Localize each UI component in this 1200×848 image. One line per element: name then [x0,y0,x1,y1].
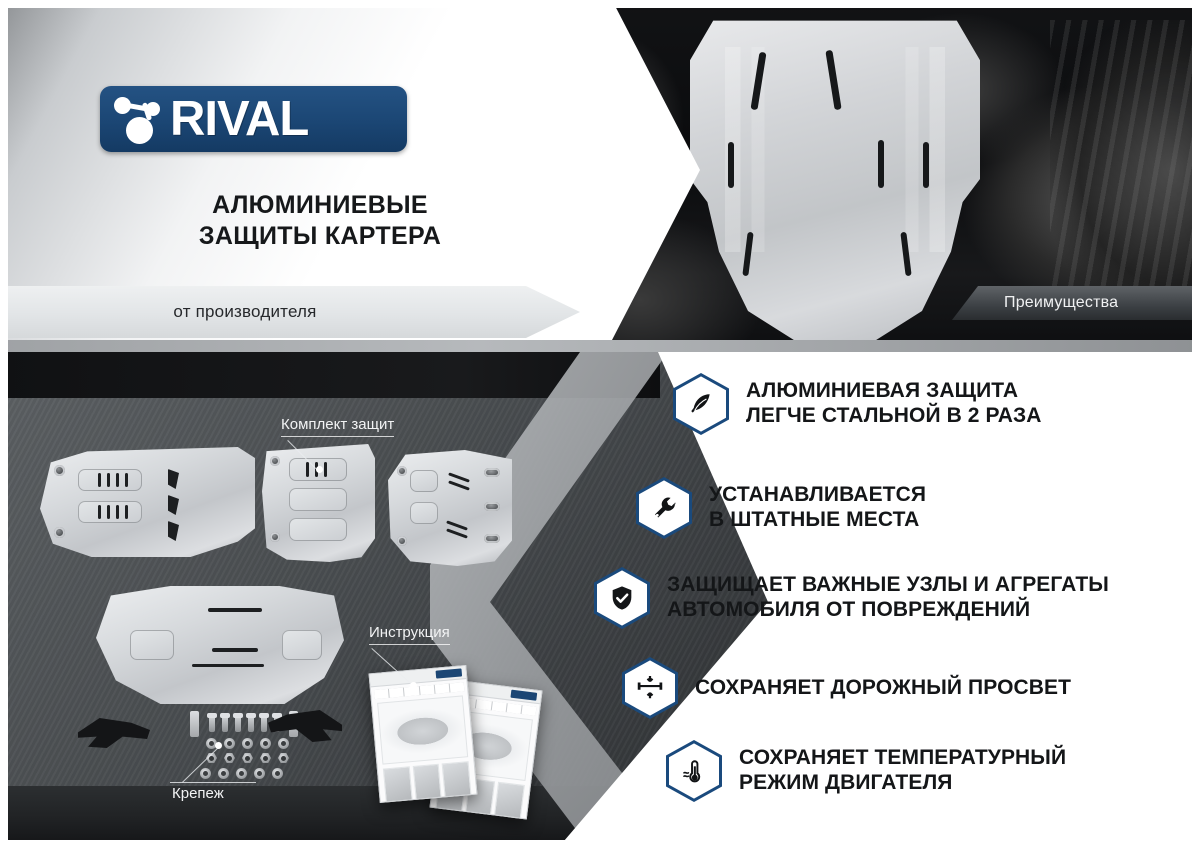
feature-install-line1: УСТАНАВЛИВАЕТСЯ [709,483,926,508]
page-title-line1: АЛЮМИНИЕВЫЕ [60,190,580,221]
page-title-line2: ЗАЩИТЫ КАРТЕРА [60,221,580,252]
label-instruction: Инструкция [369,624,450,645]
label-hardware: Крепеж [172,785,224,802]
feature-clearance-line1: СОХРАНЯЕТ ДОРОЖНЫЙ ПРОСВЕТ [695,676,1071,701]
advantages-tab-label: Преимущества [952,294,1118,312]
rival-product-banner: RIVAL АЛЮМИНИЕВЫЕ ЗАЩИТЫ КАРТЕРА от прои… [0,0,1200,848]
feature-item-install: УСТАНАВЛИВАЕТСЯ В ШТАТНЫЕ МЕСТА [636,477,926,539]
shield-check-icon [594,567,650,629]
feature-text-clearance: СОХРАНЯЕТ ДОРОЖНЫЙ ПРОСВЕТ [695,676,1071,701]
skid-plate-middle [262,444,375,562]
subtitle-text: от производителя [0,302,580,322]
feature-text-temperature: СОХРАНЯЕТ ТЕМПЕРАТУРНЫЙ РЕЖИМ ДВИГАТЕЛЯ [739,746,1066,795]
hero-section: RIVAL АЛЮМИНИЕВЫЕ ЗАЩИТЫ КАРТЕРА от прои… [0,0,1200,352]
label-hardware-underline [170,782,256,783]
feature-text-protect: ЗАЩИЩАЕТ ВАЖНЫЕ УЗЛЫ И АГРЕГАТЫ АВТОМОБИ… [667,573,1109,622]
label-hardware-text: Крепеж [172,785,224,802]
tire-detail [1050,20,1200,320]
feature-temperature-line1: СОХРАНЯЕТ ТЕМПЕРАТУРНЫЙ [739,746,1066,771]
label-kit: Комплект защит [281,416,394,437]
rival-logo: RIVAL [100,86,407,152]
instruction-sheet-front [369,665,478,803]
feature-install-line2: В ШТАТНЫЕ МЕСТА [709,508,926,533]
feature-text-weight: АЛЮМИНИЕВАЯ ЗАЩИТА ЛЕГЧЕ СТАЛЬНОЙ В 2 РА… [746,379,1042,428]
leader-dot-instruction [410,682,417,689]
leader-dot-kit [316,466,323,473]
feather-icon [673,373,729,435]
skid-plate-right [388,450,512,566]
subtitle-bar: от производителя [0,286,580,338]
feature-text-install: УСТАНАВЛИВАЕТСЯ В ШТАТНЫЕ МЕСТА [709,483,926,532]
ground-clearance-icon [622,657,678,719]
feature-item-weight: АЛЮМИНИЕВАЯ ЗАЩИТА ЛЕГЧЕ СТАЛЬНОЙ В 2 РА… [673,373,1042,435]
feature-item-temperature: СОХРАНЯЕТ ТЕМПЕРАТУРНЫЙ РЕЖИМ ДВИГАТЕЛЯ [666,740,1066,802]
feature-protect-line1: ЗАЩИЩАЕТ ВАЖНЫЕ УЗЛЫ И АГРЕГАТЫ [667,573,1109,598]
feature-item-clearance: СОХРАНЯЕТ ДОРОЖНЫЙ ПРОСВЕТ [622,657,1071,719]
hero-bottom-strip [0,340,1200,352]
feature-weight-line1: АЛЮМИНИЕВАЯ ЗАЩИТА [746,379,1042,404]
feature-weight-line2: ЛЕГЧЕ СТАЛЬНОЙ В 2 РАЗА [746,404,1042,429]
feature-temperature-line2: РЕЖИМ ДВИГАТЕЛЯ [739,771,1066,796]
brand-wordmark: RIVAL [170,95,308,144]
wrench-icon [636,477,692,539]
feature-item-protect: ЗАЩИЩАЕТ ВАЖНЫЕ УЗЛЫ И АГРЕГАТЫ АВТОМОБИ… [594,567,1109,629]
skid-plate-front-large [96,586,344,704]
skid-plate-large-left [40,447,255,557]
page-title: АЛЮМИНИЕВЫЕ ЗАЩИТЫ КАРТЕРА [60,190,580,253]
label-instruction-text: Инструкция [369,624,450,641]
feature-protect-line2: АВТОМОБИЛЯ ОТ ПОВРЕЖДЕНИЙ [667,598,1109,623]
advantages-tab[interactable]: Преимущества [952,286,1192,320]
molecule-icon [100,89,170,149]
thermometer-icon [666,740,722,802]
leader-dot-hardware [215,742,222,749]
label-kit-text: Комплект защит [281,416,394,433]
